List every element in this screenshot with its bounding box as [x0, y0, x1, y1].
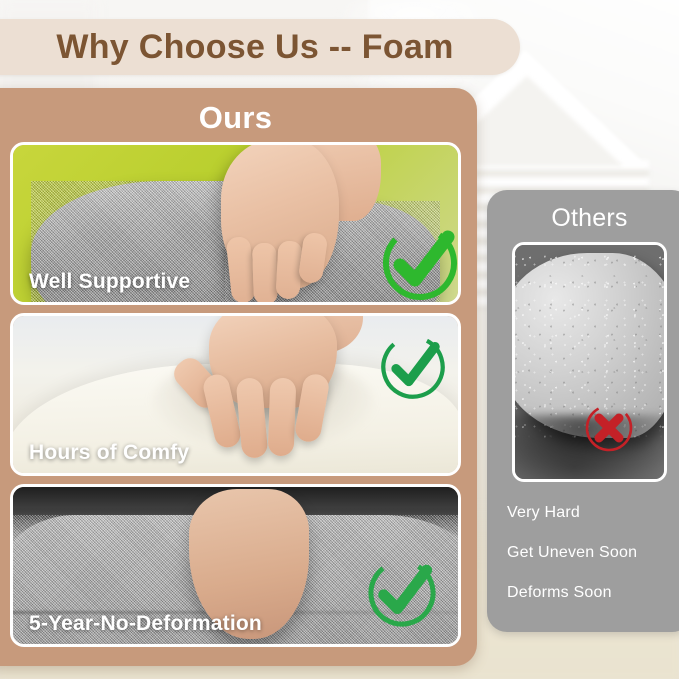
list-item: Deforms Soon	[507, 584, 678, 602]
green-check-icon	[374, 217, 461, 305]
finger-shape	[268, 378, 297, 457]
card-label: 5-Year-No-Deformation	[29, 612, 262, 636]
page-title: Why Choose Us -- Foam	[56, 28, 453, 67]
list-item: Very Hard	[507, 504, 678, 522]
list-item: Get Uneven Soon	[507, 544, 678, 562]
ours-card-hours-of-comfy: Hours of Comfy	[10, 313, 461, 476]
card-label: Well Supportive	[29, 270, 190, 294]
finger-shape	[252, 243, 278, 305]
green-check-icon	[360, 551, 444, 640]
ours-panel: Ours Well Supportive	[0, 88, 477, 666]
infographic-canvas: Others Very Hard Get Uneven Soon D	[0, 0, 679, 679]
others-drawback-list: Very Hard Get Uneven Soon Deforms Soon	[501, 504, 678, 602]
green-check-icon	[374, 328, 452, 411]
others-panel: Others Very Hard Get Uneven Soon D	[487, 190, 679, 632]
ours-heading: Ours	[0, 94, 461, 142]
card-label: Hours of Comfy	[29, 441, 189, 465]
ours-card-list: Well Supportive	[0, 142, 461, 648]
ours-card-well-supportive: Well Supportive	[10, 142, 461, 305]
red-x-icon	[581, 400, 637, 456]
title-banner: Why Choose Us -- Foam	[0, 19, 520, 75]
others-heading: Others	[501, 198, 678, 238]
ours-card-5-year-no-deformation: 5-Year-No-Deformation	[10, 484, 461, 647]
